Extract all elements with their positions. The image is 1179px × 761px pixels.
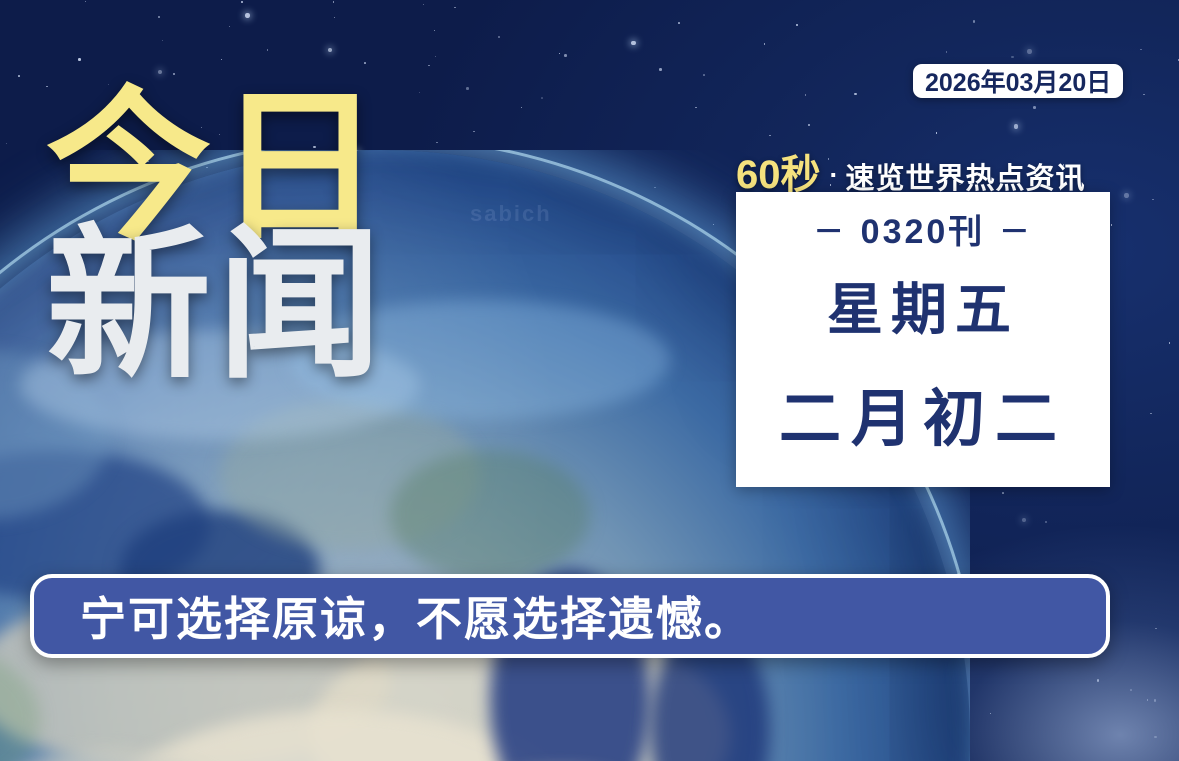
weekday-label: 星期五 — [827, 265, 1019, 346]
page-title: 今日 新闻 — [46, 92, 466, 382]
page-title-line2: 新闻 — [46, 230, 466, 382]
date-info-card: － 0320刊 － 星期五 二月初二 — [736, 192, 1110, 487]
issue-row: － 0320刊 － — [814, 204, 1033, 253]
tagline: 60秒 · 速览世界热点资讯 — [736, 142, 1110, 188]
quote-text: 宁可选择原谅，不愿选择遗憾。 — [80, 583, 752, 649]
watermark-text: sabich — [470, 201, 552, 227]
tagline-rest: 速览世界热点资讯 — [846, 155, 1086, 197]
issue-dash-right: － — [999, 207, 1032, 251]
issue-dash-left: － — [814, 207, 847, 251]
date-badge: 2026年03月20日 — [913, 64, 1123, 98]
lunar-date-label: 二月初二 — [779, 368, 1067, 458]
issue-label: 0320刊 — [861, 204, 986, 253]
tagline-separator: · — [830, 160, 839, 191]
quote-bar: 宁可选择原谅，不愿选择遗憾。 — [30, 574, 1110, 658]
poster-canvas: 2026年03月20日 今日 新闻 sabich 60秒 · 速览世界热点资讯 … — [0, 0, 1179, 761]
date-badge-label: 2026年03月20日 — [925, 63, 1111, 99]
